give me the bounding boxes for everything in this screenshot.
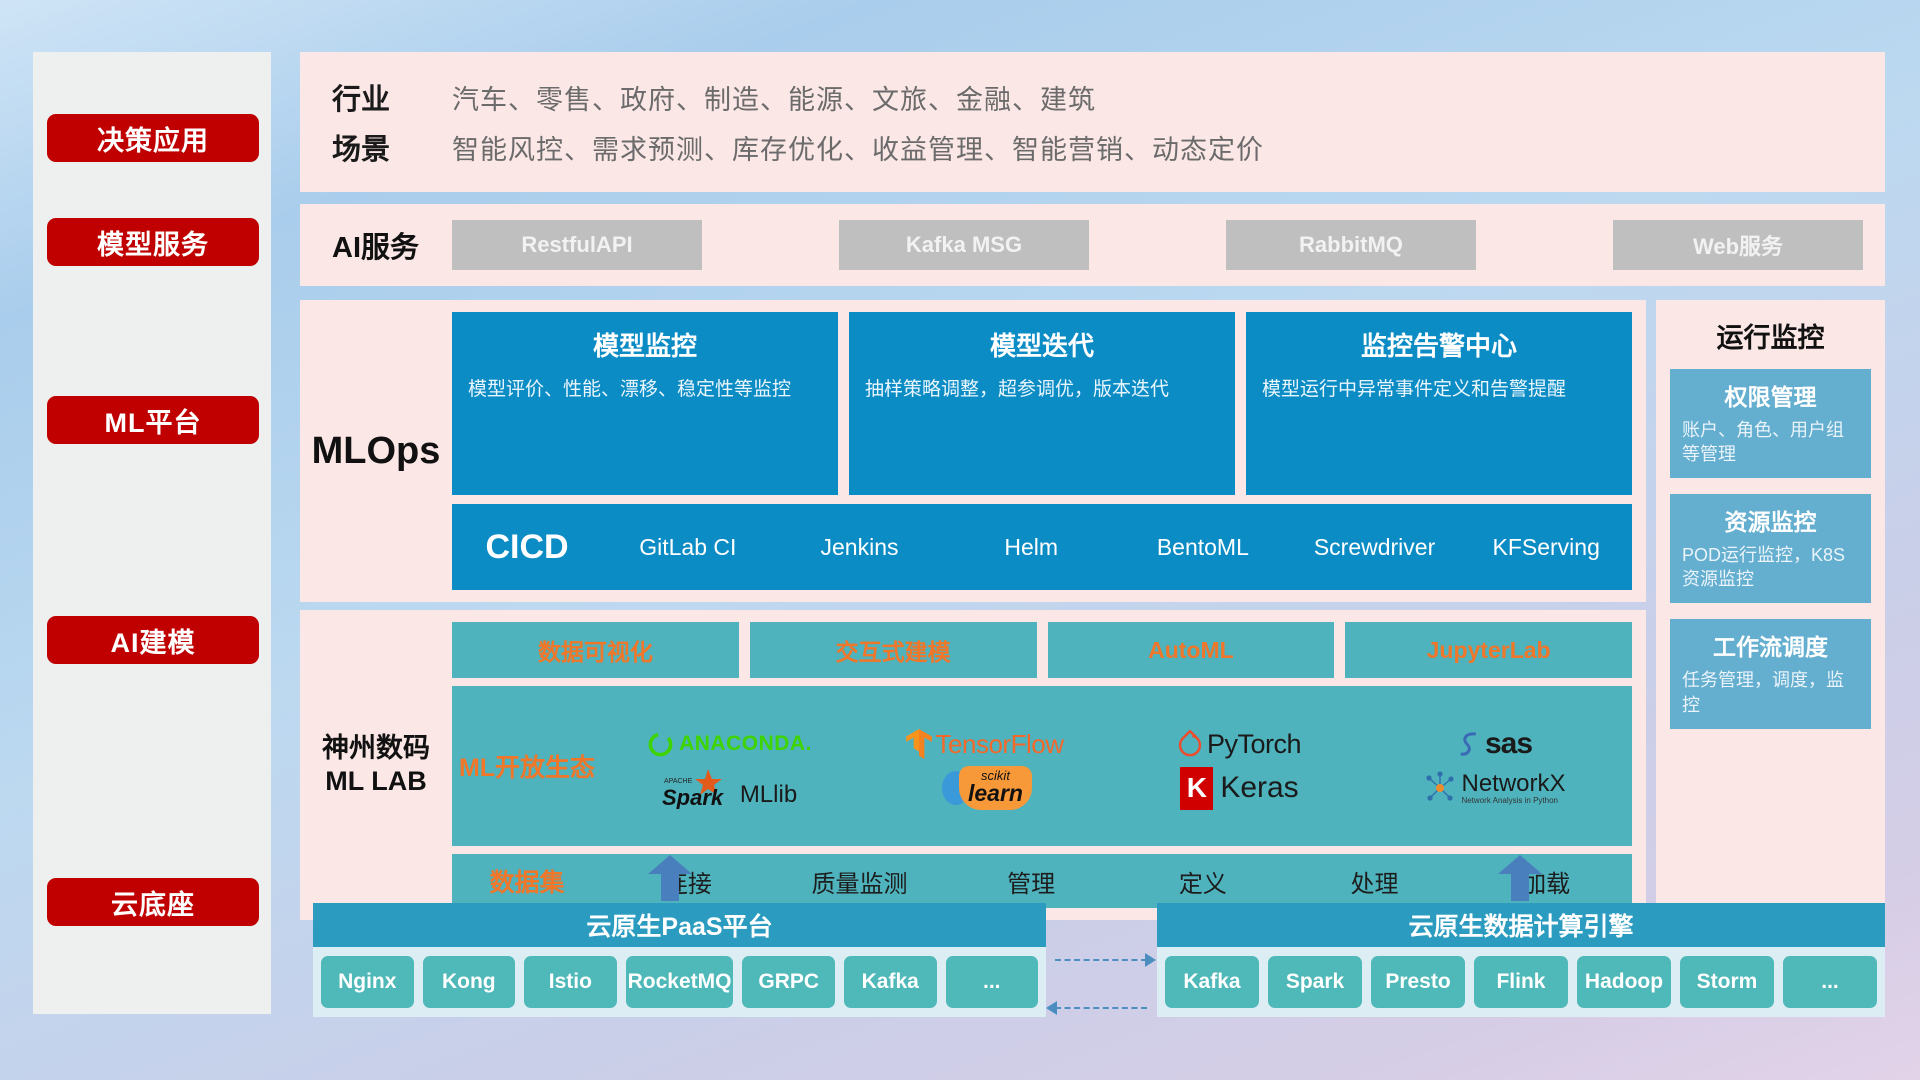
pytorch-logo: PyTorch xyxy=(1178,729,1301,760)
ml-lab-row: 神州数码 ML LAB 数据可视化 交互式建模 AutoML JupyterLa… xyxy=(300,610,1646,920)
rail-badge-label: ML平台 xyxy=(105,401,202,440)
cloud-paas-box: 云原生PaaS平台 Nginx Kong Istio RocketMQ GRPC… xyxy=(313,903,1046,1017)
arrow-up-paas xyxy=(648,855,692,901)
ml-open-ecosystem: ML开放生态 ANACONDA. TensorFlow xyxy=(452,686,1632,846)
monitoring-column: 运行监控 权限管理 账户、角色、用户组等管理 资源监控 POD运行监控，K8S资… xyxy=(1656,300,1885,920)
dash-arrowhead-left xyxy=(1046,1001,1057,1015)
rail-badge-cloud-base[interactable]: 云底座 xyxy=(47,878,259,926)
ml-lab-key: 神州数码 ML LAB xyxy=(300,732,452,799)
chip-more[interactable]: ... xyxy=(946,956,1039,1008)
rail-badge-label: 决策应用 xyxy=(97,119,209,158)
chip-rocketmq[interactable]: RocketMQ xyxy=(626,956,734,1008)
keras-logo: K Keras xyxy=(1180,767,1298,810)
monitor-card-desc: POD运行监控，K8S资源监控 xyxy=(1682,543,1859,591)
chip-storm[interactable]: Storm xyxy=(1680,956,1774,1008)
networkx-logo: NetworkX Network Analysis in Python xyxy=(1423,771,1565,805)
monitor-card-permission[interactable]: 权限管理 账户、角色、用户组等管理 xyxy=(1670,369,1871,478)
cicd-item-jenkins[interactable]: Jenkins xyxy=(774,535,946,559)
industry-key: 行业 xyxy=(332,76,452,118)
dash-arrowhead-right xyxy=(1145,953,1156,967)
decision-application-row: 行业 汽车、零售、政府、制造、能源、文旅、金融、建筑 场景 智能风控、需求预测、… xyxy=(300,52,1885,192)
industry-value: 汽车、零售、政府、制造、能源、文旅、金融、建筑 xyxy=(452,78,1096,117)
ai-service-button-restfulapi[interactable]: RestfulAPI xyxy=(452,220,702,270)
anaconda-logo: ANACONDA. xyxy=(647,731,812,758)
monitor-card-title: 权限管理 xyxy=(1682,378,1859,412)
lab-tool-jupyterlab[interactable]: JupyterLab xyxy=(1345,622,1632,678)
lab-tool-interactive-modeling[interactable]: 交互式建模 xyxy=(750,622,1037,678)
chip-istio[interactable]: Istio xyxy=(524,956,617,1008)
monitor-card-workflow[interactable]: 工作流调度 任务管理，调度，监控 xyxy=(1670,619,1871,728)
cicd-item-helm[interactable]: Helm xyxy=(945,535,1117,559)
ml-lab-key-line2: ML LAB xyxy=(300,765,452,798)
svg-text:Spark: Spark xyxy=(662,785,725,809)
tensorflow-logo-label: TensorFlow xyxy=(936,729,1064,760)
dataset-item-manage[interactable]: 管理 xyxy=(945,864,1117,899)
cloud-compute-box: 云原生数据计算引擎 Kafka Spark Presto Flink Hadoo… xyxy=(1157,903,1885,1017)
dataset-item-load[interactable]: 加载 xyxy=(1460,864,1632,899)
rail-badge-label: 云底座 xyxy=(111,883,195,922)
pytorch-logo-label: PyTorch xyxy=(1207,729,1301,760)
mlops-row: MLOps 模型监控 模型评价、性能、漂移、稳定性等监控 模型迭代 抽样策略调整… xyxy=(300,300,1646,602)
spark-mllib-logo: APACHE Spark MLlib xyxy=(662,767,797,809)
chip-kafka[interactable]: Kafka xyxy=(844,956,937,1008)
cicd-item-screwdriver[interactable]: Screwdriver xyxy=(1289,535,1461,559)
mlops-card-title: 模型监控 xyxy=(468,326,822,363)
dataset-bar: 数据集 连接 质量监测 管理 定义 处理 加载 xyxy=(452,854,1632,908)
dataset-item-process[interactable]: 处理 xyxy=(1289,864,1461,899)
cloud-paas-chips: Nginx Kong Istio RocketMQ GRPC Kafka ... xyxy=(313,947,1046,1017)
keras-logo-label: Keras xyxy=(1220,771,1298,805)
monitor-card-desc: 任务管理，调度，监控 xyxy=(1682,668,1859,716)
ai-service-buttons: RestfulAPI Kafka MSG RabbitMQ Web服务 xyxy=(452,220,1885,270)
anaconda-logo-label: ANACONDA. xyxy=(679,732,812,756)
ai-service-button-web-service[interactable]: Web服务 xyxy=(1613,220,1863,270)
rail-badge-ml-platform[interactable]: ML平台 xyxy=(47,396,259,444)
cicd-bar: CICD GitLab CI Jenkins Helm BentoML Scre… xyxy=(452,504,1632,590)
ml-lab-tools: 数据可视化 交互式建模 AutoML JupyterLab xyxy=(452,622,1632,678)
mlops-card-desc: 模型运行中异常事件定义和告警提醒 xyxy=(1262,377,1616,403)
cicd-key: CICD xyxy=(452,528,602,567)
rail-badge-decision-app[interactable]: 决策应用 xyxy=(47,114,259,162)
tensorflow-logo: TensorFlow xyxy=(906,729,1064,760)
rail-badge-label: 模型服务 xyxy=(97,223,209,262)
dataset-items: 连接 质量监测 管理 定义 处理 加载 xyxy=(602,864,1632,899)
dataset-key: 数据集 xyxy=(452,863,602,899)
scikit-learn-logo-label: learn xyxy=(968,783,1023,805)
dataset-item-define[interactable]: 定义 xyxy=(1117,864,1289,899)
chip-more-compute[interactable]: ... xyxy=(1783,956,1877,1008)
cicd-items: GitLab CI Jenkins Helm BentoML Screwdriv… xyxy=(602,535,1632,559)
mlops-card-model-monitoring[interactable]: 模型监控 模型评价、性能、漂移、稳定性等监控 xyxy=(452,312,838,495)
ai-service-button-rabbitmq[interactable]: RabbitMQ xyxy=(1226,220,1476,270)
rail-badge-model-service[interactable]: 模型服务 xyxy=(47,218,259,266)
cicd-item-kfserving[interactable]: KFServing xyxy=(1460,535,1632,559)
chip-kong[interactable]: Kong xyxy=(423,956,516,1008)
mlops-key: MLOps xyxy=(300,430,452,473)
chip-hadoop[interactable]: Hadoop xyxy=(1577,956,1671,1008)
ai-service-row: AI服务 RestfulAPI Kafka MSG RabbitMQ Web服务 xyxy=(300,204,1885,286)
chip-flink[interactable]: Flink xyxy=(1474,956,1568,1008)
scenario-key: 场景 xyxy=(332,126,452,168)
cicd-item-bentoml[interactable]: BentoML xyxy=(1117,535,1289,559)
dash-connector-right xyxy=(1055,959,1147,961)
scenario-value: 智能风控、需求预测、库存优化、收益管理、智能营销、动态定价 xyxy=(452,128,1264,167)
rail-badge-ai-modeling[interactable]: AI建模 xyxy=(47,616,259,664)
sas-logo-label: sas xyxy=(1485,727,1532,761)
svg-text:APACHE: APACHE xyxy=(664,778,693,785)
ml-lab-body: 数据可视化 交互式建模 AutoML JupyterLab ML开放生态 ANA… xyxy=(452,622,1632,908)
lab-tool-automl[interactable]: AutoML xyxy=(1048,622,1335,678)
chip-kafka-compute[interactable]: Kafka xyxy=(1165,956,1259,1008)
monitor-card-resource[interactable]: 资源监控 POD运行监控，K8S资源监控 xyxy=(1670,494,1871,603)
rail-badge-label: AI建模 xyxy=(111,621,196,660)
spark-mllib-logo-label: MLlib xyxy=(740,781,797,809)
scenario-line: 场景 智能风控、需求预测、库存优化、收益管理、智能营销、动态定价 xyxy=(332,122,1885,172)
industry-line: 行业 汽车、零售、政府、制造、能源、文旅、金融、建筑 xyxy=(332,72,1885,122)
networkx-logo-label: NetworkX xyxy=(1461,772,1565,796)
mlops-card-model-iteration[interactable]: 模型迭代 抽样策略调整，超参调优，版本迭代 xyxy=(849,312,1235,495)
cloud-compute-chips: Kafka Spark Presto Flink Hadoop Storm ..… xyxy=(1157,947,1885,1017)
lab-tool-data-visualization[interactable]: 数据可视化 xyxy=(452,622,739,678)
ml-open-ecosystem-logos: ANACONDA. TensorFlow xyxy=(602,722,1632,810)
ml-open-ecosystem-key: ML开放生态 xyxy=(452,748,602,784)
scikit-learn-logo: scikit learn xyxy=(937,766,1032,810)
cloud-paas-title: 云原生PaaS平台 xyxy=(313,903,1046,947)
monitor-card-title: 资源监控 xyxy=(1682,503,1859,537)
mlops-card-alert-center[interactable]: 监控告警中心 模型运行中异常事件定义和告警提醒 xyxy=(1246,312,1632,495)
monitor-card-title: 工作流调度 xyxy=(1682,628,1859,662)
ai-service-button-kafka-msg[interactable]: Kafka MSG xyxy=(839,220,1089,270)
chip-nginx[interactable]: Nginx xyxy=(321,956,414,1008)
ai-service-key: AI服务 xyxy=(332,224,452,266)
chip-spark[interactable]: Spark xyxy=(1268,956,1362,1008)
chip-presto[interactable]: Presto xyxy=(1371,956,1465,1008)
mlops-card-title: 模型迭代 xyxy=(865,326,1219,363)
mlops-card-title: 监控告警中心 xyxy=(1262,326,1616,363)
left-rail-panel: 决策应用 模型服务 ML平台 AI建模 云底座 xyxy=(33,52,271,1014)
chip-grpc[interactable]: GRPC xyxy=(742,956,835,1008)
mlops-body: 模型监控 模型评价、性能、漂移、稳定性等监控 模型迭代 抽样策略调整，超参调优，… xyxy=(452,312,1632,590)
monitoring-title: 运行监控 xyxy=(1670,316,1871,355)
dataset-item-quality[interactable]: 质量监测 xyxy=(774,864,946,899)
mlops-cards: 模型监控 模型评价、性能、漂移、稳定性等监控 模型迭代 抽样策略调整，超参调优，… xyxy=(452,312,1632,495)
mlops-card-desc: 模型评价、性能、漂移、稳定性等监控 xyxy=(468,377,822,403)
cicd-item-gitlab-ci[interactable]: GitLab CI xyxy=(602,535,774,559)
monitor-card-desc: 账户、角色、用户组等管理 xyxy=(1682,418,1859,466)
arrow-up-compute xyxy=(1498,855,1542,901)
cloud-compute-title: 云原生数据计算引擎 xyxy=(1157,903,1885,947)
mlops-card-desc: 抽样策略调整，超参调优，版本迭代 xyxy=(865,377,1219,403)
dash-connector-left xyxy=(1055,1007,1147,1009)
ml-lab-key-line1: 神州数码 xyxy=(300,732,452,765)
sas-logo: sas xyxy=(1457,727,1532,761)
